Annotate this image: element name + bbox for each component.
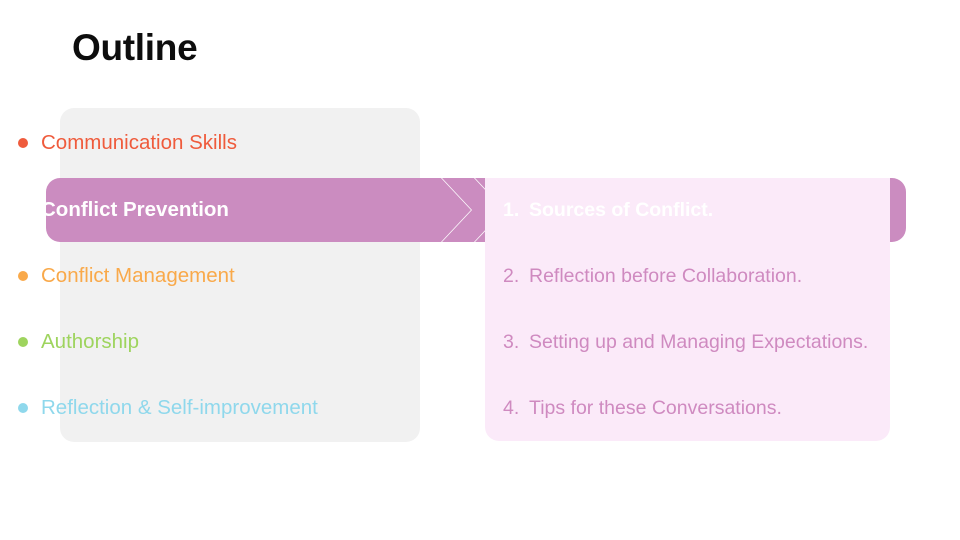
- detail-item-label: Sources of Conflict.: [529, 197, 713, 223]
- page-title: Outline: [72, 28, 197, 69]
- detail-item-4[interactable]: 4. Tips for these Conversations.: [503, 395, 903, 421]
- detail-item-number: 1.: [503, 197, 529, 223]
- detail-item-number: 2.: [503, 263, 529, 289]
- bullet-dot-icon: [18, 138, 28, 148]
- detail-item-1[interactable]: 1. Sources of Conflict.: [503, 197, 903, 223]
- sidebar-item-conflict-prevention[interactable]: Conflict Prevention: [18, 197, 360, 223]
- detail-item-label: Setting up and Managing Expectations.: [529, 329, 868, 355]
- detail-item-label: Tips for these Conversations.: [529, 395, 782, 421]
- sidebar-item-label: Communication Skills: [41, 130, 237, 156]
- bullet-dot-icon: [18, 337, 28, 347]
- detail-item-number: 3.: [503, 329, 529, 355]
- detail-item-2[interactable]: 2. Reflection before Collaboration.: [503, 263, 903, 289]
- bullet-dot-icon: [18, 271, 28, 281]
- bullet-dot-icon: [18, 205, 28, 215]
- detail-item-3[interactable]: 3. Setting up and Managing Expectations.: [503, 329, 903, 355]
- sidebar-item-label: Conflict Management: [41, 263, 235, 289]
- sidebar-item-label: Conflict Prevention: [41, 197, 229, 223]
- slide-canvas: Outline Communication Skills Conflict Pr…: [0, 0, 960, 540]
- sidebar-item-label: Authorship: [41, 329, 139, 355]
- sidebar-item-label: Reflection & Self-improvement: [41, 395, 318, 421]
- detail-item-number: 4.: [503, 395, 529, 421]
- detail-item-label: Reflection before Collaboration.: [529, 263, 802, 289]
- sidebar-item-authorship[interactable]: Authorship: [18, 329, 360, 355]
- sidebar-item-conflict-management[interactable]: Conflict Management: [18, 263, 360, 289]
- sidebar-item-communication-skills[interactable]: Communication Skills: [18, 130, 360, 156]
- sidebar-item-reflection-self-improvement[interactable]: Reflection & Self-improvement: [18, 395, 360, 421]
- bullet-dot-icon: [18, 403, 28, 413]
